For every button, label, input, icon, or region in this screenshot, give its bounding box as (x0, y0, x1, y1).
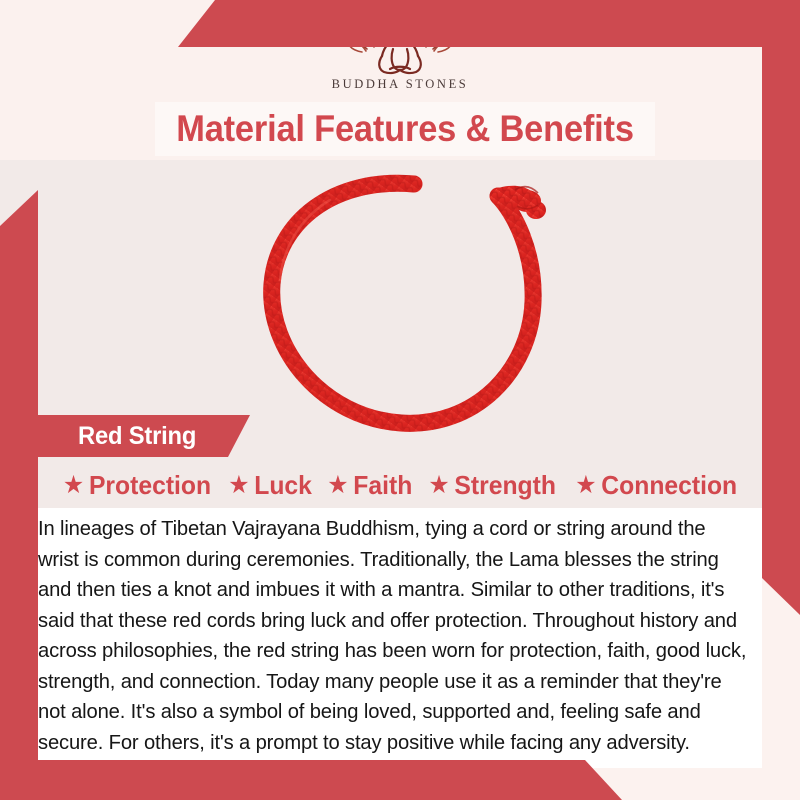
product-label-banner: Red String (28, 415, 250, 457)
infographic-page: BUDDHA STONES Material Features & Benefi… (0, 0, 800, 800)
feature-label: Protection (89, 470, 211, 501)
page-title-plate: Material Features & Benefits (155, 102, 655, 156)
feature-item-strength: ★ Strength (429, 470, 557, 501)
feature-label: Strength (455, 470, 557, 501)
feature-item-luck: ★ Luck (228, 470, 312, 501)
description-text: In lineages of Tibetan Vajrayana Buddhis… (38, 514, 751, 758)
description-block: In lineages of Tibetan Vajrayana Buddhis… (38, 508, 762, 768)
star-icon: ★ (228, 473, 249, 498)
page-title: Material Features & Benefits (176, 108, 634, 150)
product-label: Red String (78, 422, 196, 451)
brand-name: BUDDHA STONES (332, 77, 469, 92)
star-icon: ★ (327, 473, 348, 498)
star-icon: ★ (575, 473, 596, 498)
feature-item-faith: ★ Faith (327, 470, 412, 501)
feature-item-protection: ★ Protection (63, 470, 211, 501)
feature-list: ★ Protection ★ Luck ★ Faith ★ Strength ★… (0, 466, 800, 504)
feature-label: Faith (353, 470, 412, 501)
feature-item-connection: ★ Connection (575, 470, 737, 501)
star-icon: ★ (63, 473, 84, 498)
decor-frame-right (762, 0, 800, 615)
star-icon: ★ (429, 473, 450, 498)
feature-label: Luck (254, 470, 312, 501)
feature-label: Connection (601, 470, 737, 501)
